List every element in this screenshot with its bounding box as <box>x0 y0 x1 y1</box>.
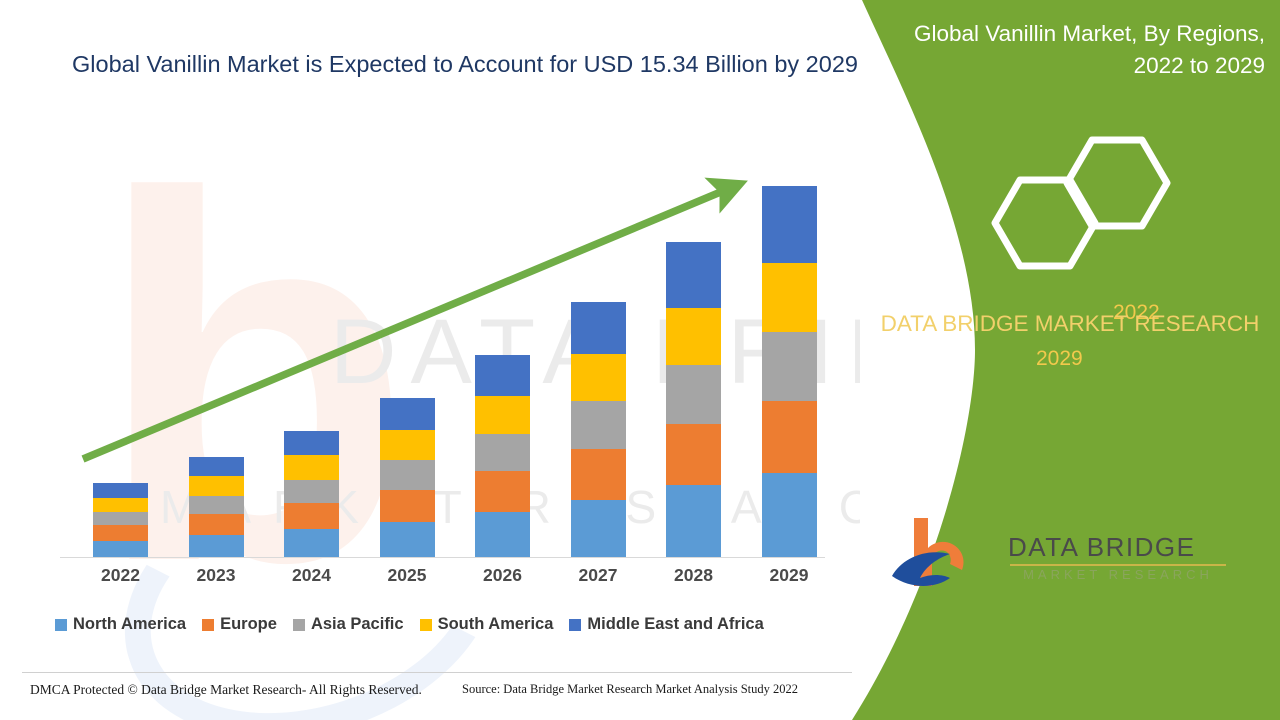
legend-label: Europe <box>220 615 277 634</box>
footer-dmca-notice: DMCA Protected © Data Bridge Market Rese… <box>30 682 422 698</box>
bar-segment <box>284 529 339 557</box>
bar-segment <box>475 396 530 434</box>
bar-segment <box>284 503 339 529</box>
bar-2023 <box>189 457 244 557</box>
bar-segment <box>475 471 530 512</box>
bar-segment <box>380 460 435 490</box>
bar-segment <box>571 449 626 500</box>
stacked-bar-group <box>55 120 835 557</box>
legend-label: Asia Pacific <box>311 615 404 634</box>
legend-item-asia-pacific: Asia Pacific <box>293 615 404 634</box>
bar-segment <box>475 355 530 396</box>
bar-2025 <box>380 398 435 557</box>
chart-plot-area <box>55 120 835 560</box>
bar-2024 <box>284 431 339 557</box>
x-axis-label-2022: 2022 <box>81 565 161 586</box>
legend-swatch-icon <box>420 619 432 631</box>
bar-segment <box>284 480 339 504</box>
bar-segment <box>666 308 721 365</box>
bar-segment <box>284 431 339 456</box>
logo-mark-icon <box>888 512 998 598</box>
brand-name: DATA BRIDGE MARKET RESEARCH <box>870 308 1270 340</box>
x-axis-labels: 20222023202420252026202720282029 <box>55 565 835 595</box>
legend-label: South America <box>438 615 554 634</box>
bar-segment <box>571 302 626 354</box>
x-axis-label-2027: 2027 <box>558 565 638 586</box>
bar-2029 <box>762 186 817 557</box>
bar-segment <box>189 514 244 535</box>
hexagon-2029-label: 2029 <box>1036 347 1083 371</box>
bar-segment <box>93 483 148 498</box>
bar-2028 <box>666 242 721 557</box>
bar-segment <box>380 490 435 523</box>
panel-content: Global Vanillin Market, By Regions, 2022… <box>860 0 1280 720</box>
bar-segment <box>380 430 435 460</box>
x-axis-label-2029: 2029 <box>749 565 829 586</box>
bar-2027 <box>571 302 626 557</box>
bar-segment <box>93 512 148 525</box>
logo-subtext: MARKET RESEARCH <box>1010 567 1226 582</box>
bar-segment <box>189 496 244 514</box>
chart-title: Global Vanillin Market is Expected to Ac… <box>70 48 860 81</box>
bar-segment <box>189 535 244 557</box>
bar-segment <box>380 522 435 557</box>
bar-segment <box>762 401 817 473</box>
x-axis-label-2023: 2023 <box>176 565 256 586</box>
footer-source-note: Source: Data Bridge Market Research Mark… <box>462 682 798 697</box>
bar-segment <box>93 541 148 557</box>
bar-segment <box>284 455 339 479</box>
logo-wordmark: DATA BRIDGE <box>1008 532 1195 563</box>
hexagon-badges: 2022 2029 <box>870 128 1270 298</box>
bar-segment <box>762 473 817 557</box>
legend-item-middle-east-and-africa: Middle East and Africa <box>569 615 763 634</box>
bar-segment <box>571 500 626 557</box>
bar-segment <box>189 457 244 476</box>
panel-title: Global Vanillin Market, By Regions, 2022… <box>880 18 1265 82</box>
chart-legend: North AmericaEuropeAsia PacificSouth Ame… <box>55 615 845 634</box>
infographic-page: b DATA BRIDGE MARKET RESEARCH Global Van… <box>0 0 1280 720</box>
bar-segment <box>762 332 817 401</box>
bar-2026 <box>475 355 530 557</box>
bar-segment <box>571 401 626 449</box>
x-axis-label-2028: 2028 <box>654 565 734 586</box>
legend-item-south-america: South America <box>420 615 554 634</box>
bar-segment <box>475 434 530 471</box>
data-bridge-logo: DATA BRIDGE MARKET RESEARCH <box>888 512 1258 602</box>
legend-item-europe: Europe <box>202 615 277 634</box>
bar-segment <box>666 485 721 557</box>
legend-label: Middle East and Africa <box>587 615 763 634</box>
legend-swatch-icon <box>55 619 67 631</box>
bar-segment <box>93 498 148 512</box>
footer-divider <box>22 672 852 673</box>
bar-segment <box>666 242 721 307</box>
x-axis-label-2024: 2024 <box>272 565 352 586</box>
legend-label: North America <box>73 615 186 634</box>
hexagon-2022 <box>1067 140 1167 226</box>
bar-segment <box>571 354 626 401</box>
bar-segment <box>475 512 530 557</box>
bar-segment <box>762 186 817 263</box>
x-axis-line <box>60 557 825 558</box>
bar-segment <box>93 525 148 541</box>
bar-segment <box>666 424 721 486</box>
legend-swatch-icon <box>569 619 581 631</box>
bar-segment <box>189 476 244 495</box>
bar-segment <box>380 398 435 430</box>
legend-item-north-america: North America <box>55 615 186 634</box>
bar-segment <box>762 263 817 331</box>
x-axis-label-2026: 2026 <box>463 565 543 586</box>
bar-segment <box>666 365 721 424</box>
legend-swatch-icon <box>293 619 305 631</box>
hexagon-2029 <box>995 180 1095 266</box>
bar-2022 <box>93 483 148 557</box>
legend-swatch-icon <box>202 619 214 631</box>
x-axis-label-2025: 2025 <box>367 565 447 586</box>
logo-divider <box>1010 564 1226 566</box>
